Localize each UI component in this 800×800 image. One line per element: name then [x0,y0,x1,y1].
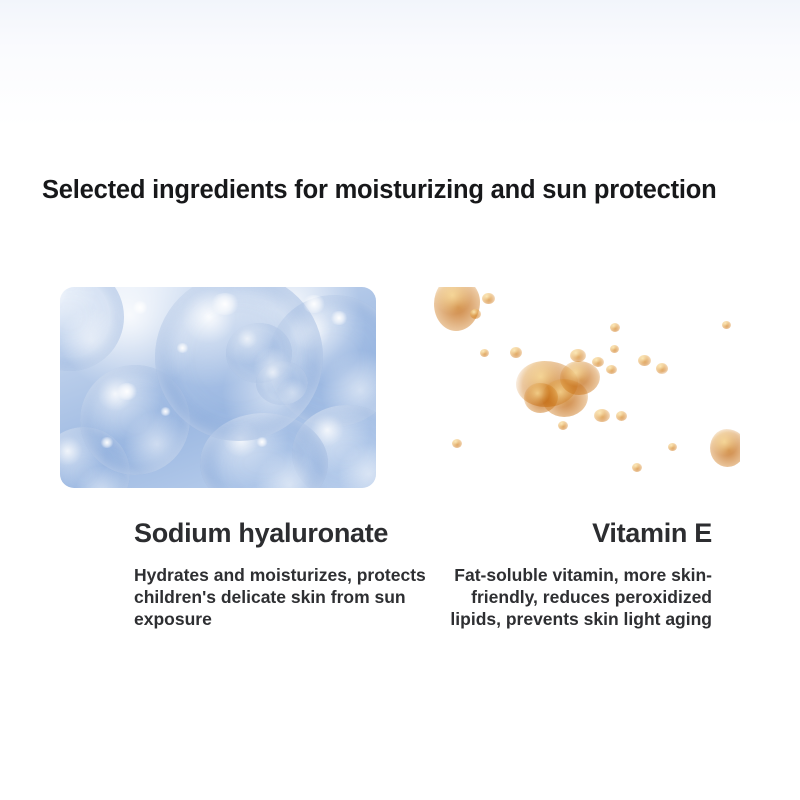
highlight-icon [713,374,735,410]
infographic-page: Selected ingredients for moisturizing an… [0,0,800,800]
ingredient-text-vitamin-e: Vitamin E Fat-soluble vitamin, more skin… [420,519,712,630]
gel-bubble-icon [594,409,610,422]
gel-bubble-icon [480,349,489,357]
highlight-icon [100,437,114,448]
gel-bubble-icon [482,293,495,304]
highlight-icon [116,383,138,400]
gel-bubble-icon [570,349,586,362]
highlight-icon [176,343,189,353]
water-bubbles-photo [60,287,376,488]
highlight-icon [610,303,641,317]
highlight-icon [210,293,240,315]
gel-bubble-icon [470,309,481,319]
highlight-icon [160,407,171,416]
ingredient-card-sodium-hyaluronate [60,287,376,488]
gel-bubble-icon [592,357,604,367]
gel-bubble-icon [638,355,651,366]
gel-bubble-icon [610,323,620,332]
highlight-icon [132,301,148,314]
gel-bubble-icon [558,421,568,430]
highlight-icon [256,437,268,447]
highlight-icon [649,368,685,389]
ingredient-description: Fat-soluble vitamin, more skin-friendly,… [420,564,712,630]
gel-bubble-icon [610,345,619,353]
ingredient-card-row [0,287,800,488]
gel-bubble-icon [606,365,617,374]
bubble-icon [60,287,124,371]
bubble-icon [256,361,308,405]
ingredient-card-vitamin-e [424,287,740,488]
gel-bubble-icon [722,321,731,329]
ingredient-name: Vitamin E [420,519,712,549]
highlight-icon [302,295,326,313]
gel-bubble-icon [452,439,462,448]
page-title: Selected ingredients for moisturizing an… [42,176,772,205]
ingredient-text-sodium-hyaluronate: Sodium hyaluronate Hydrates and moisturi… [134,519,426,630]
ingredient-name: Sodium hyaluronate [134,519,426,549]
highlight-icon [330,311,348,325]
gel-bubble-icon [616,411,627,421]
gel-bubble-icon [668,443,677,451]
gel-bubble-icon [510,347,522,358]
gel-bubble-icon [710,429,740,467]
amber-gel-photo [424,287,740,488]
gel-bubble-icon [632,463,642,472]
highlight-icon [686,333,720,383]
ingredient-description: Hydrates and moisturizes, protects child… [134,564,426,630]
